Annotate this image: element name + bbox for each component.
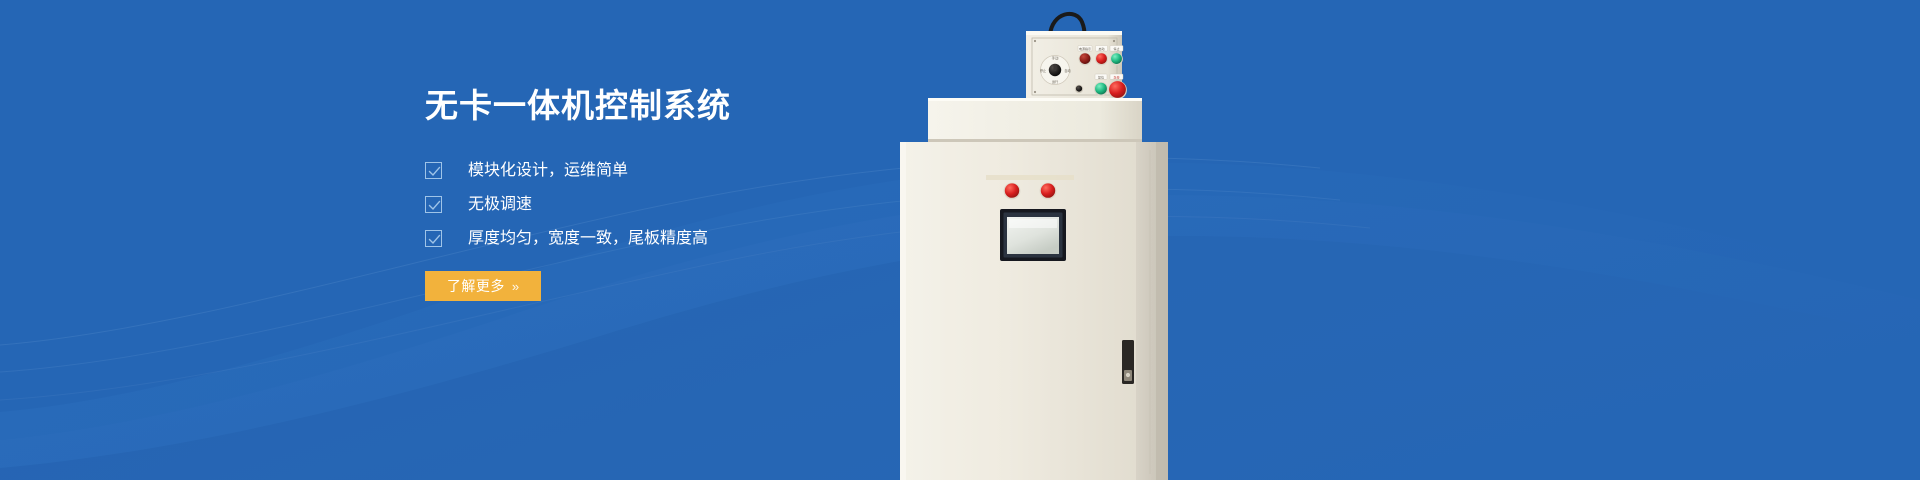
red-push-button <box>1096 53 1107 64</box>
svg-text:复位: 复位 <box>1098 74 1104 79</box>
chevron-right-icon: » <box>512 279 519 294</box>
checkbox-check-icon <box>425 230 442 247</box>
svg-text:自动: 自动 <box>1064 68 1070 73</box>
list-item: 厚度均匀，宽度一致，尾板精度高 <box>425 230 1125 247</box>
green-push-button <box>1111 53 1122 64</box>
svg-text:电源指示: 电源指示 <box>1079 46 1091 51</box>
svg-text:运行: 运行 <box>1052 79 1059 84</box>
svg-text:停止: 停止 <box>1113 46 1119 51</box>
page-title: 无卡一体机控制系统 <box>425 88 1125 124</box>
red-indicator-button <box>1080 53 1091 64</box>
hero-banner: 手动 停止 自动 运行 电源指示 启动 停止 复位 急停 <box>0 0 1920 480</box>
feature-label: 模块化设计，运维简单 <box>468 163 628 179</box>
feature-list: 模块化设计，运维简单 无极调速 厚度均匀，宽度一致，尾板精度高 <box>425 162 1125 247</box>
list-item: 无极调速 <box>425 196 1125 213</box>
svg-text:急停: 急停 <box>1113 74 1119 79</box>
svg-text:手动: 手动 <box>1052 56 1059 61</box>
cta-wrapper: 了解更多 » <box>425 271 1125 301</box>
checkbox-check-icon <box>425 162 442 179</box>
learn-more-button[interactable]: 了解更多 » <box>425 271 541 301</box>
learn-more-label: 了解更多 <box>447 276 505 296</box>
svg-text:停止: 停止 <box>1040 68 1047 73</box>
hero-content: 无卡一体机控制系统 模块化设计，运维简单 无极调速 <box>425 88 1125 301</box>
list-item: 模块化设计，运维简单 <box>425 162 1125 179</box>
feature-label: 厚度均匀，宽度一致，尾板精度高 <box>468 231 708 247</box>
checkbox-check-icon <box>425 196 442 213</box>
svg-text:启动: 启动 <box>1098 46 1104 51</box>
feature-label: 无极调速 <box>468 197 532 213</box>
